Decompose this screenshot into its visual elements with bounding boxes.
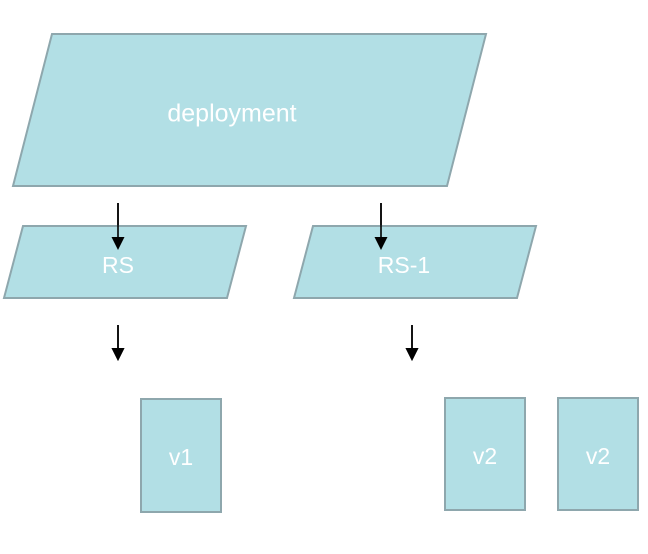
node-label-deployment: deployment [167, 100, 296, 128]
diagram-svg: deploymentRSRS-1v1v2v2 [0, 0, 648, 554]
node-deployment[interactable]: deployment [13, 34, 486, 186]
node-pod-v2-a[interactable]: v2 [445, 398, 525, 510]
arrowhead-icon [112, 348, 125, 361]
arrowhead-icon [406, 348, 419, 361]
nodes-layer: deploymentRSRS-1v1v2v2 [4, 34, 638, 512]
diagram-canvas: deploymentRSRS-1v1v2v2 [0, 0, 648, 554]
node-label-pod-v2-b: v2 [586, 443, 610, 469]
node-pod-v2-b[interactable]: v2 [558, 398, 638, 510]
node-label-rs: RS [102, 252, 134, 278]
node-label-pod-v2-a: v2 [473, 443, 497, 469]
node-label-pod-v1: v1 [169, 444, 193, 470]
node-rs-1[interactable]: RS-1 [294, 226, 536, 298]
node-rs[interactable]: RS [4, 226, 246, 298]
node-pod-v1[interactable]: v1 [141, 399, 221, 512]
node-label-rs-1: RS-1 [378, 252, 430, 278]
